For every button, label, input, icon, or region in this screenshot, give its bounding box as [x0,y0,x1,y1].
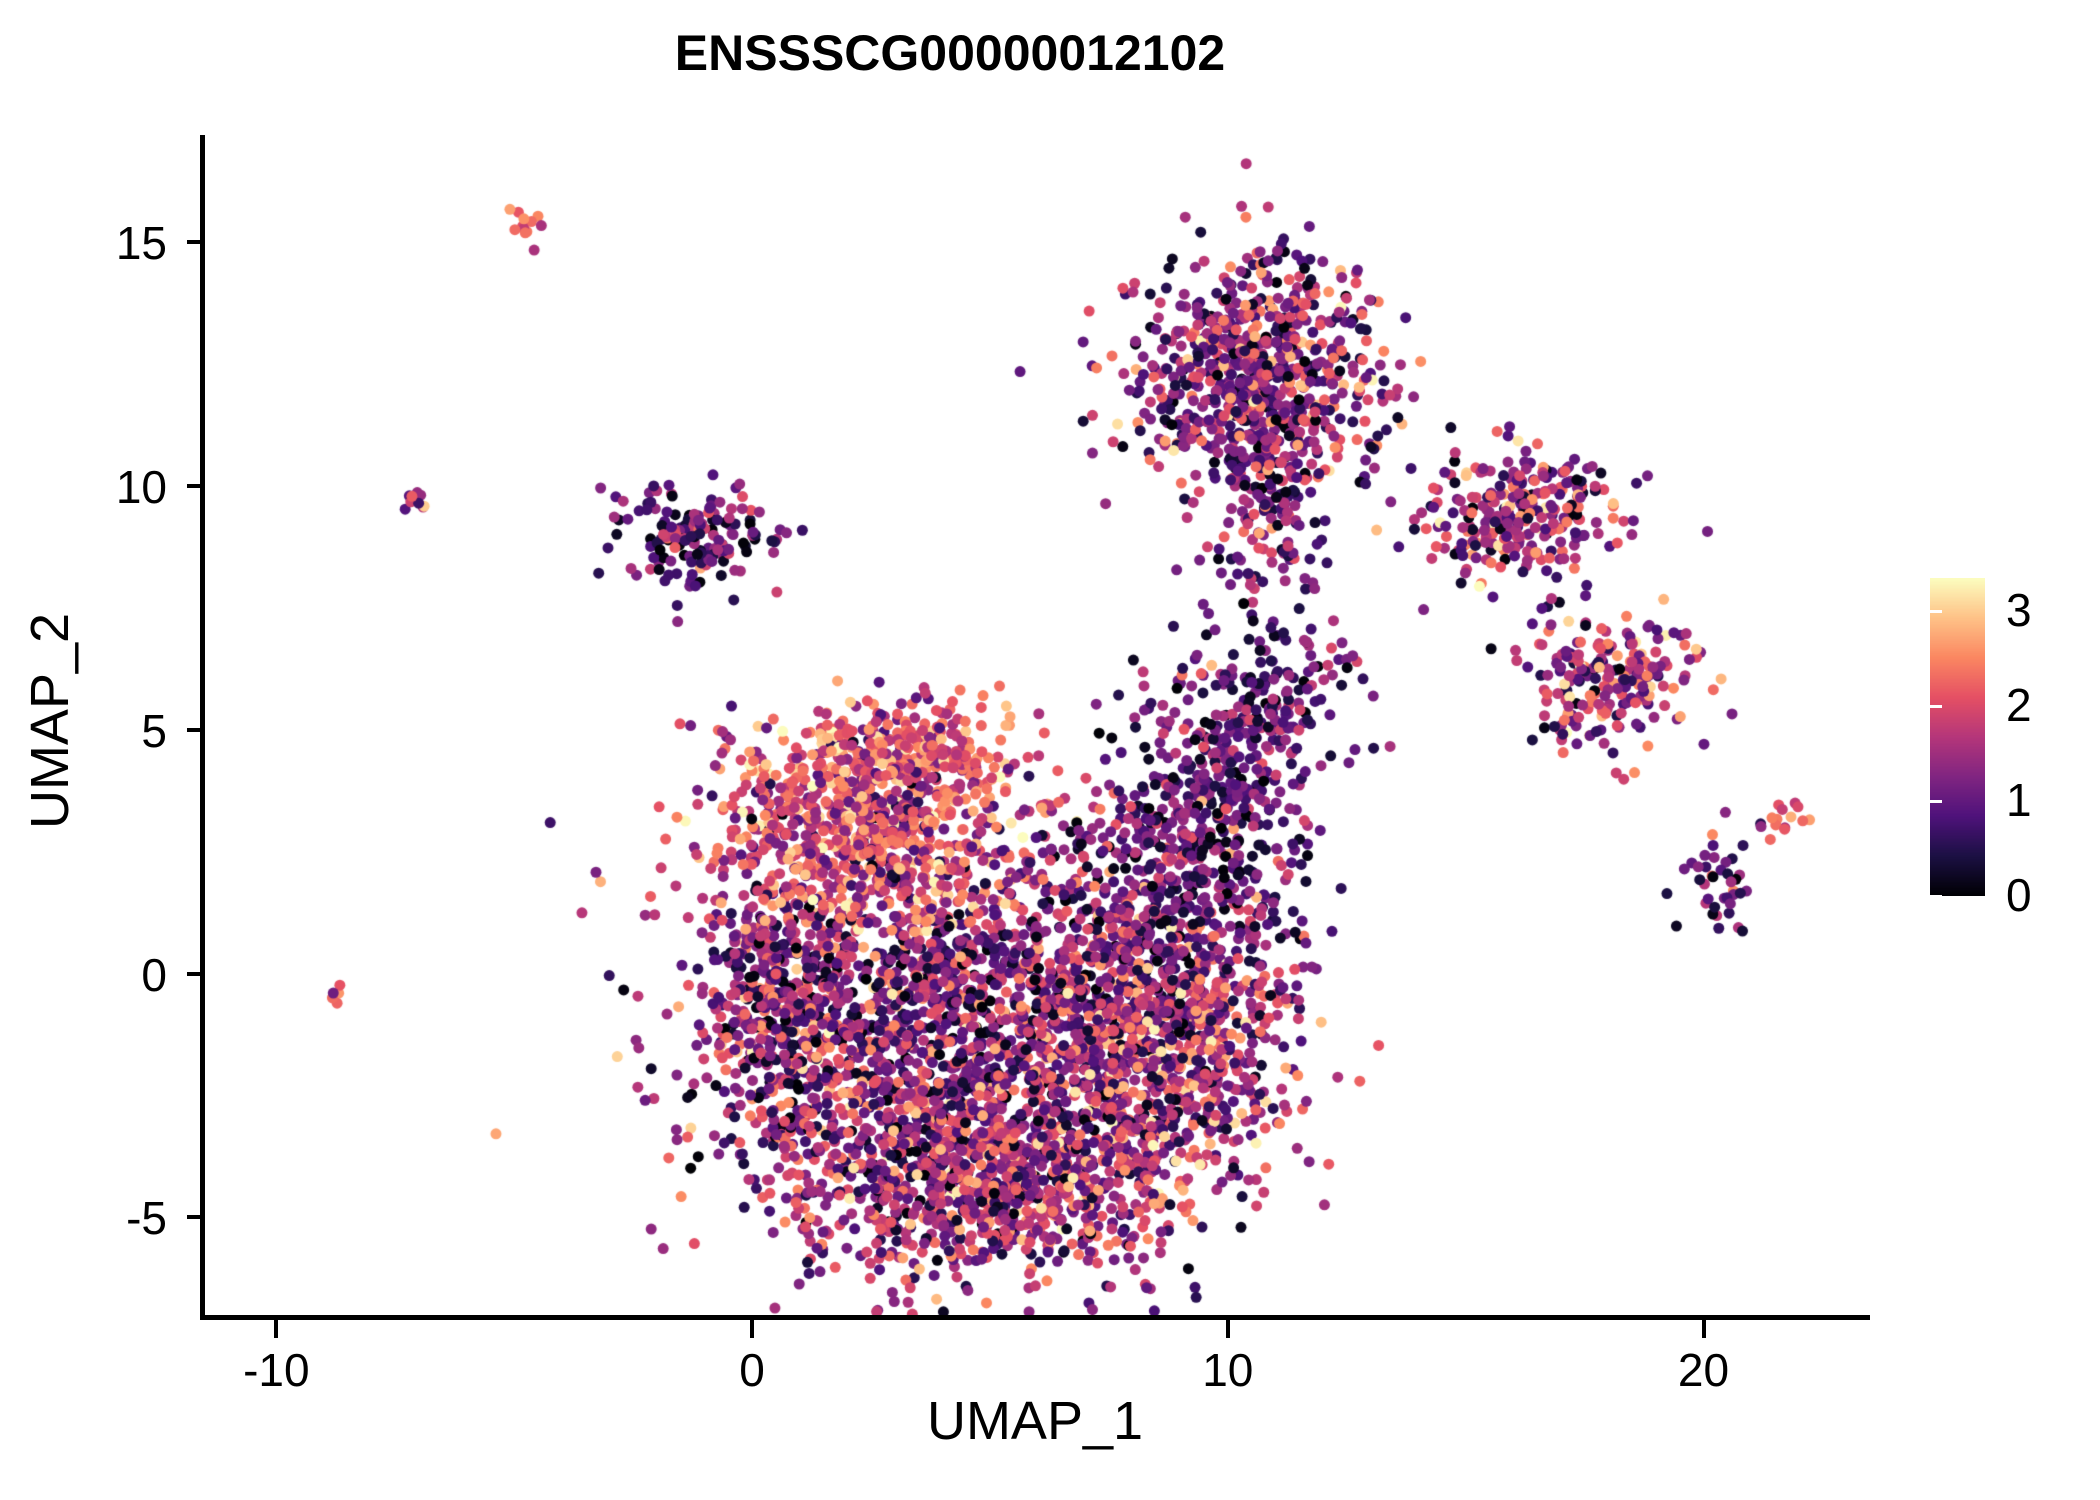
x-tick-label: 10 [1148,1343,1308,1397]
y-tick-mark [187,484,205,488]
y-axis-title: UMAP_2 [19,341,81,1101]
plot-panel [205,135,1870,1315]
y-tick-label: -5 [27,1191,167,1245]
y-tick-label: 15 [27,216,167,270]
y-tick-mark [187,972,205,976]
colorbar-tick-label: 1 [2006,777,2032,823]
colorbar-tick-mark [2068,895,2080,898]
colorbar-legend: 3210 [1930,578,2080,908]
x-axis-title: UMAP_1 [200,1390,1870,1452]
colorbar-tick-label: 2 [2006,682,2032,728]
umap-feature-plot: ENSSSCG00000012102 -5051015 -1001020 UMA… [0,0,2100,1500]
colorbar-tick-mark [2068,705,2080,708]
x-tick-mark [274,1320,278,1338]
x-tick-label: 20 [1624,1343,1784,1397]
page-title: ENSSSCG00000012102 [0,24,1900,82]
colorbar-tick-mark [1930,800,1942,803]
colorbar-tick-mark [1930,705,1942,708]
colorbar-tick-mark [2068,800,2080,803]
x-tick-mark [1226,1320,1230,1338]
colorbar-tick-mark [1930,895,1942,898]
x-axis-line [200,1315,1870,1320]
y-tick-mark [187,240,205,244]
x-tick-label: 0 [672,1343,832,1397]
colorbar-tick-label: 0 [2006,872,2032,918]
y-tick-mark [187,1215,205,1219]
colorbar-gradient [1930,578,1985,896]
y-axis-line [200,135,205,1315]
colorbar-tick-mark [2068,610,2080,613]
scatter-points-canvas [205,135,1870,1315]
x-tick-mark [750,1320,754,1338]
colorbar-tick-label: 3 [2006,587,2032,633]
y-tick-mark [187,728,205,732]
x-tick-mark [1702,1320,1706,1338]
x-tick-label: -10 [196,1343,356,1397]
colorbar-tick-mark [1930,610,1942,613]
